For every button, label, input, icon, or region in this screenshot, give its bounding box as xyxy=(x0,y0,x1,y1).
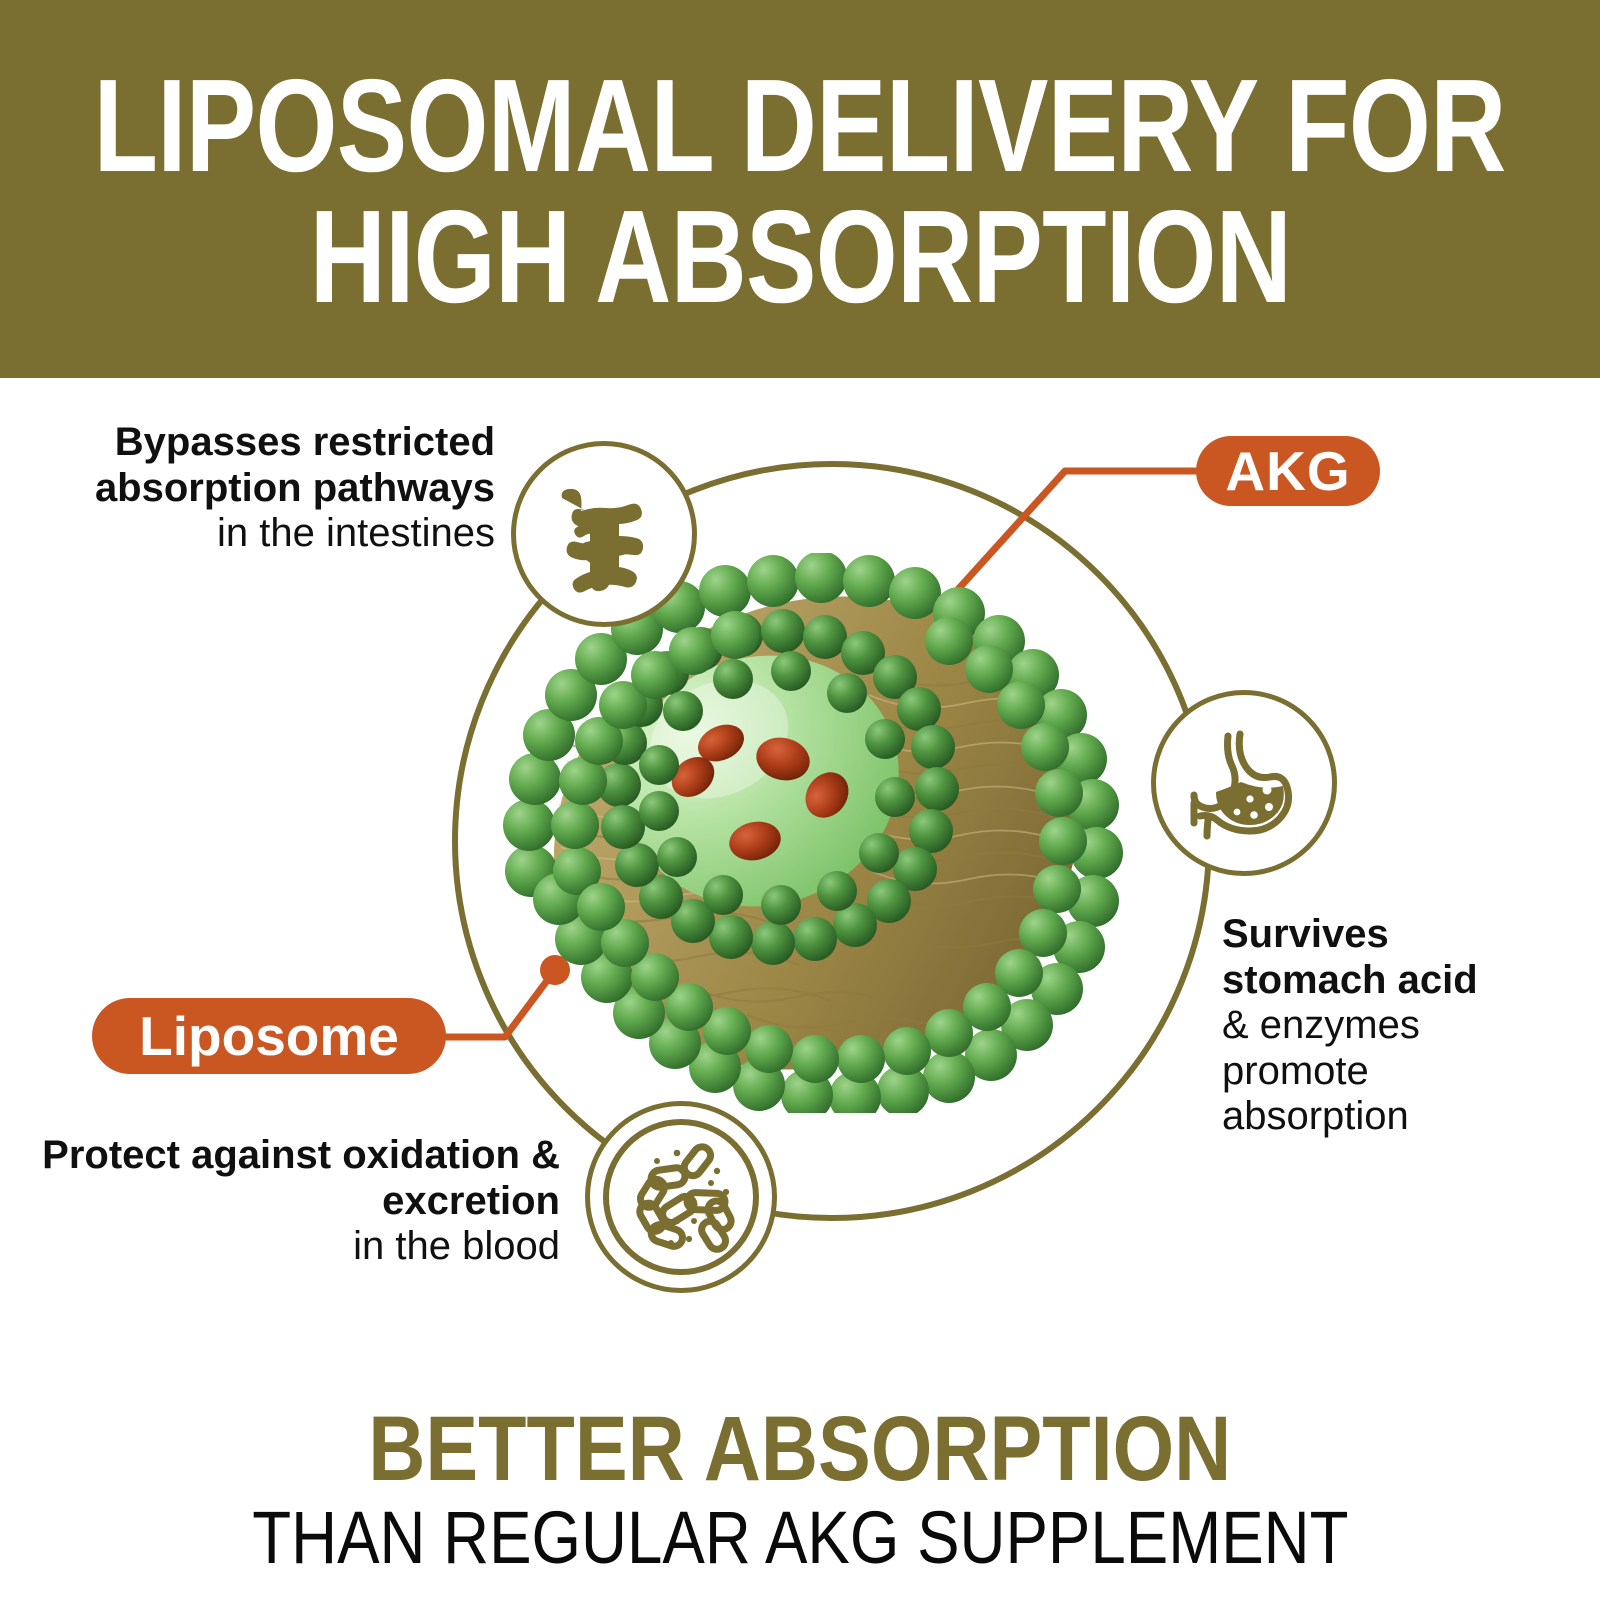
callout-blood: Protect against oxidation & excretion in… xyxy=(30,1133,560,1270)
liposome-illustration xyxy=(497,553,1137,1113)
microbe-icon-bubble[interactable] xyxy=(585,1101,777,1293)
callout-stomach-regular: & enzymes promote absorption xyxy=(1222,1003,1552,1140)
callout-stomach: Survives stomach acid & enzymes promote … xyxy=(1222,912,1552,1140)
callout-blood-regular: in the blood xyxy=(30,1224,560,1270)
diagram-stage: AKG Liposome Bypasses restricted absorpt… xyxy=(0,378,1600,1378)
footer-main-text: BETTER ABSORPTION xyxy=(368,1403,1231,1495)
liposome-badge[interactable]: Liposome xyxy=(92,998,446,1074)
footer-sub-text: THAN REGULAR AKG SUPPLEMENT xyxy=(252,1501,1348,1575)
microbe-icon xyxy=(593,1109,769,1285)
intestine-icon-bubble[interactable] xyxy=(511,441,697,627)
callout-intestines: Bypasses restricted absorption pathways … xyxy=(20,420,495,557)
callout-intestines-bold: Bypasses restricted absorption pathways xyxy=(20,420,495,511)
stomach-icon xyxy=(1181,720,1307,846)
akg-badge[interactable]: AKG xyxy=(1196,436,1380,506)
footer-claim: BETTER ABSORPTION THAN REGULAR AKG SUPPL… xyxy=(0,1378,1600,1600)
header-title-line1: LIPOSOMAL DELIVERY FOR xyxy=(94,61,1506,192)
intestine-icon xyxy=(544,474,664,594)
header-title-line2: HIGH ABSORPTION xyxy=(309,192,1290,323)
stomach-icon-bubble[interactable] xyxy=(1151,690,1337,876)
header-banner: LIPOSOMAL DELIVERY FOR HIGH ABSORPTION xyxy=(0,0,1600,378)
callout-blood-bold: Protect against oxidation & excretion xyxy=(30,1133,560,1224)
callout-stomach-bold: Survives stomach acid xyxy=(1222,912,1552,1003)
callout-intestines-regular: in the intestines xyxy=(20,511,495,557)
